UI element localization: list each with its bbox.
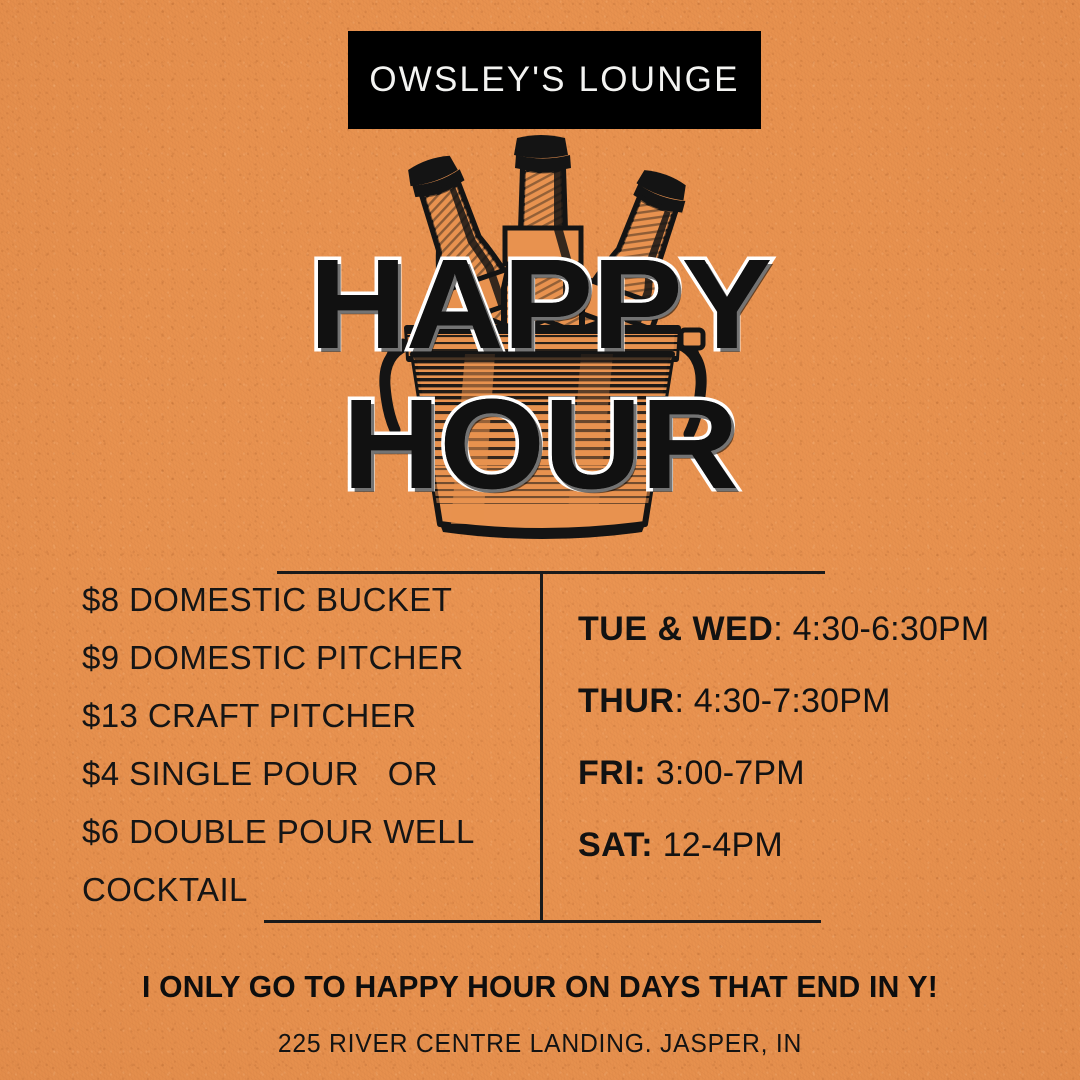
schedule-separator: : — [773, 610, 792, 648]
footer-tagline: I ONLY GO TO HAPPY HOUR ON DAYS THAT END… — [16, 969, 1064, 1005]
schedule-day: THUR — [578, 682, 674, 720]
schedule-time: 12-4PM — [663, 826, 783, 864]
schedule-row: THUR: 4:30-7:30PM — [578, 684, 1058, 718]
schedule-day: SAT: — [578, 826, 653, 864]
price-list: $8 DOMESTIC BUCKET $9 DOMESTIC PITCHER $… — [82, 583, 532, 931]
schedule-day: TUE & WED — [578, 610, 773, 648]
bucket-and-bottles — [385, 135, 703, 539]
schedule-time: 3:00-7PM — [656, 754, 805, 792]
price-list-item: COCKTAIL — [82, 873, 532, 906]
beer-bucket-illustration — [345, 132, 740, 547]
happy-hour-poster: OWSLEY'S LOUNGE — [0, 0, 1080, 1080]
bucket-handle-left — [385, 342, 405, 430]
schedule-separator: : — [674, 682, 693, 720]
price-list-item: $9 DOMESTIC PITCHER — [82, 641, 532, 674]
schedule-row: TUE & WED: 4:30-6:30PM — [578, 612, 1058, 646]
schedule-row: FRI: 3:00-7PM — [578, 756, 1058, 790]
price-list-item: $13 CRAFT PITCHER — [82, 699, 532, 732]
schedule-row: SAT: 12-4PM — [578, 828, 1058, 862]
price-list-item: $4 SINGLE POUR OR — [82, 757, 532, 790]
schedule-list: TUE & WED: 4:30-6:30PM THUR: 4:30-7:30PM… — [578, 612, 1058, 900]
schedule-separator — [653, 826, 663, 864]
schedule-separator — [646, 754, 656, 792]
venue-name-banner: OWSLEY'S LOUNGE — [348, 31, 761, 129]
schedule-time: 4:30-6:30PM — [793, 610, 990, 648]
bucket-handle-right — [679, 330, 703, 434]
venue-name: OWSLEY'S LOUNGE — [369, 60, 739, 100]
price-list-item: $8 DOMESTIC BUCKET — [82, 583, 532, 616]
footer-address: 225 RIVER CENTRE LANDING. JASPER, IN — [27, 1028, 1053, 1059]
divider-rule-top — [277, 571, 825, 574]
schedule-time: 4:30-7:30PM — [694, 682, 891, 720]
bucket-body — [405, 354, 685, 539]
price-list-item: $6 DOUBLE POUR WELL — [82, 815, 532, 848]
divider-rule-vertical — [540, 572, 543, 921]
schedule-day: FRI: — [578, 754, 646, 792]
